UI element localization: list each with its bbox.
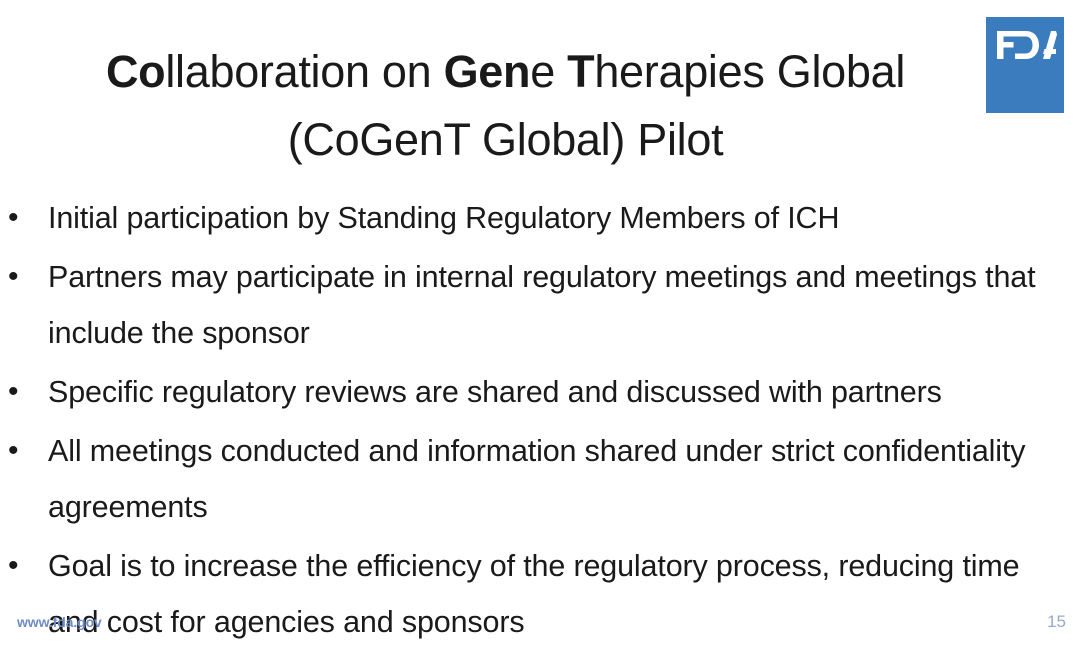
bullet-marker-icon: • [0,190,48,246]
title-segment-3: e [530,46,567,97]
title-segment-2: Gen [444,46,531,97]
bullet-item: •Initial participation by Standing Regul… [0,190,1080,246]
bullet-marker-icon: • [0,364,48,420]
bullet-marker-icon: • [0,538,48,594]
bullet-marker-icon: • [0,249,48,305]
title-line-2: (CoGenT Global) Pilot [0,106,1005,174]
bullet-item: •Specific regulatory reviews are shared … [0,364,1080,420]
footer-url[interactable]: www.fda.gov [17,614,102,630]
bullet-text: Goal is to increase the efficiency of th… [48,538,1080,650]
bullet-item: •All meetings conducted and information … [0,423,1080,535]
title-segment-1: llaboration on [165,46,443,97]
page-title: Collaboration on Gene Therapies Global (… [0,38,1005,174]
footer-page-number: 15 [1047,612,1066,632]
bullet-text: Partners may participate in internal reg… [48,249,1080,361]
title-segment-5: herapies Global [594,46,905,97]
bullet-list: •Initial participation by Standing Regul… [0,190,1080,650]
title-segment-4: T [567,46,594,97]
title-line-1: Collaboration on Gene Therapies Global [0,38,1005,106]
bullet-text: Specific regulatory reviews are shared a… [48,364,1080,420]
bullet-marker-icon: • [0,423,48,479]
bullet-text: All meetings conducted and information s… [48,423,1080,535]
bullet-item: •Goal is to increase the efficiency of t… [0,538,1080,650]
bullet-item: •Partners may participate in internal re… [0,249,1080,361]
title-segment-0: Co [106,46,165,97]
bullet-text: Initial participation by Standing Regula… [48,190,1080,246]
slide-canvas: Collaboration on Gene Therapies Global (… [0,0,1080,650]
